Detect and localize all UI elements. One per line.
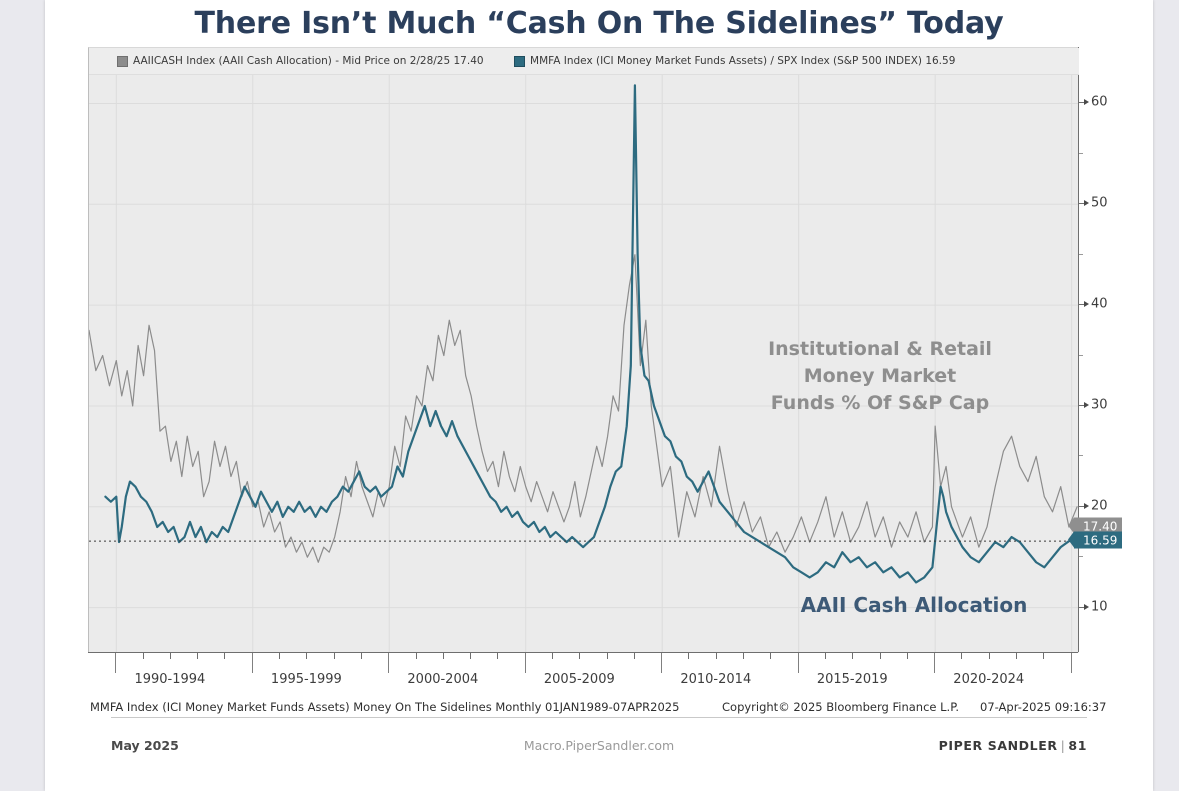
y-tick-arrow-icon <box>1084 503 1089 509</box>
x-axis-label: 1995-1999 <box>271 672 342 687</box>
x-tick-minor <box>989 653 990 659</box>
y-tick-minor <box>1079 153 1083 154</box>
x-tick-minor <box>1043 653 1044 659</box>
y-axis-label: 50 <box>1091 196 1108 211</box>
x-tick-major <box>388 653 389 673</box>
legend-label-mmfa: MMFA Index (ICI Money Market Funds Asset… <box>530 55 955 67</box>
y-axis-label: 10 <box>1091 599 1108 614</box>
x-axis-line <box>88 652 1078 653</box>
x-tick-minor <box>143 653 144 659</box>
y-axis: 10203040506017.4016.59 <box>1078 47 1124 652</box>
teal-swatch-icon <box>514 56 525 67</box>
x-axis-label: 2020-2024 <box>953 672 1024 687</box>
x-tick-minor <box>470 653 471 659</box>
chart-legend: AAIICASH Index (AAII Cash Allocation) - … <box>89 48 1079 75</box>
x-tick-minor <box>306 653 307 659</box>
legend-item-mmfa: MMFA Index (ICI Money Market Funds Asset… <box>514 48 955 74</box>
money-market-annotation: Institutional & Retail Money Market Fund… <box>735 336 1025 417</box>
x-tick-minor <box>497 653 498 659</box>
y-tick-arrow-icon <box>1084 301 1089 307</box>
x-tick-major <box>798 653 799 673</box>
bloomberg-footer: MMFA Index (ICI Money Market Funds Asset… <box>90 700 1150 716</box>
y-tick-minor <box>1079 455 1083 456</box>
x-tick-minor <box>907 653 908 659</box>
x-tick-minor <box>634 653 635 659</box>
x-tick-major <box>934 653 935 673</box>
page-title: There Isn’t Much “Cash On The Sidelines”… <box>45 6 1153 41</box>
y-axis-line <box>1078 47 1079 652</box>
y-axis-label: 40 <box>1091 297 1108 312</box>
footer-brand: PIPER SANDLER|81 <box>939 738 1087 753</box>
y-tick-minor <box>1079 556 1083 557</box>
aaii-annotation: AAII Cash Allocation <box>769 593 1059 617</box>
x-tick-minor <box>170 653 171 659</box>
x-tick-minor <box>716 653 717 659</box>
y-tick-minor <box>1079 355 1083 356</box>
x-axis: 1990-19941995-19992000-20042005-20092010… <box>88 652 1078 698</box>
y-tick-arrow-icon <box>1084 402 1089 408</box>
x-tick-major <box>1071 653 1072 673</box>
x-tick-minor <box>416 653 417 659</box>
slide-page: There Isn’t Much “Cash On The Sidelines”… <box>45 0 1153 791</box>
x-axis-label: 1990-1994 <box>134 672 205 687</box>
x-tick-minor <box>552 653 553 659</box>
x-tick-minor <box>961 653 962 659</box>
x-tick-minor <box>607 653 608 659</box>
x-tick-minor <box>1016 653 1017 659</box>
y-axis-label: 60 <box>1091 95 1108 110</box>
x-axis-label: 2015-2019 <box>817 672 888 687</box>
x-tick-minor <box>279 653 280 659</box>
x-axis-label: 2000-2004 <box>407 672 478 687</box>
y-axis-label: 30 <box>1091 397 1108 412</box>
x-axis-label: 2010-2014 <box>680 672 751 687</box>
x-tick-minor <box>579 653 580 659</box>
y-tick-arrow-icon <box>1084 604 1089 610</box>
legend-label-aaiicash: AAIICASH Index (AAII Cash Allocation) - … <box>133 55 484 67</box>
x-tick-major <box>252 653 253 673</box>
footer-divider <box>111 717 1087 718</box>
x-tick-minor <box>443 653 444 659</box>
x-tick-major <box>661 653 662 673</box>
footer-copyright: Copyright© 2025 Bloomberg Finance L.P. <box>722 700 959 714</box>
mm-line-1: Institutional & Retail <box>735 336 1025 363</box>
page-number: 81 <box>1068 738 1087 753</box>
footer-timestamp: 07-Apr-2025 09:16:37 <box>980 700 1106 714</box>
bloomberg-chart: AAIICASH Index (AAII Cash Allocation) - … <box>88 47 1124 700</box>
mm-line-2: Money Market <box>735 363 1025 390</box>
x-tick-minor <box>825 653 826 659</box>
y-tick-minor <box>1079 254 1083 255</box>
x-tick-minor <box>334 653 335 659</box>
x-axis-label: 2005-2009 <box>544 672 615 687</box>
y-axis-label: 20 <box>1091 498 1108 513</box>
x-tick-minor <box>361 653 362 659</box>
brand-separator: | <box>1058 738 1069 753</box>
y-tick-arrow-icon <box>1084 99 1089 105</box>
x-tick-minor <box>743 653 744 659</box>
legend-item-aaiicash: AAIICASH Index (AAII Cash Allocation) - … <box>117 48 484 74</box>
x-tick-minor <box>197 653 198 659</box>
footer-description: MMFA Index (ICI Money Market Funds Asset… <box>90 700 679 714</box>
price-tag-mmfa[interactable]: 16.59 <box>1074 532 1122 549</box>
brand-name: PIPER SANDLER <box>939 738 1058 753</box>
x-tick-minor <box>880 653 881 659</box>
x-tick-minor <box>770 653 771 659</box>
x-tick-major <box>115 653 116 673</box>
mm-line-3: Funds % Of S&P Cap <box>735 390 1025 417</box>
y-tick-arrow-icon <box>1084 200 1089 206</box>
x-tick-minor <box>852 653 853 659</box>
plot-area: AAIICASH Index (AAII Cash Allocation) - … <box>88 47 1079 653</box>
x-tick-major <box>525 653 526 673</box>
x-tick-minor <box>224 653 225 659</box>
x-tick-minor <box>688 653 689 659</box>
gray-swatch-icon <box>117 56 128 67</box>
